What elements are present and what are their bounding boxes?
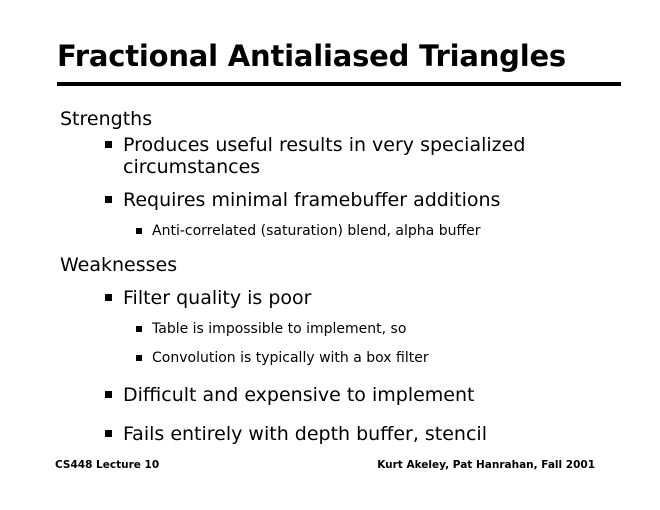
bullet-label: Produces useful results in very speciali… — [123, 134, 525, 178]
section-heading-strengths: Strengths — [0, 108, 660, 131]
spacer — [0, 371, 660, 384]
bullet-label: Filter quality is poor — [123, 287, 311, 309]
footer-authors-label: Kurt Akeley, Pat Hanrahan, Fall 2001 — [377, 458, 595, 472]
square-bullet-icon — [105, 430, 112, 437]
slide-body: Strengths Produces useful results in ver… — [0, 108, 660, 449]
section-heading-label: Weaknesses — [60, 254, 177, 276]
bullet-item: Fails entirely with depth buffer, stenci… — [0, 423, 660, 445]
slide-canvas: Fractional Antialiased Triangles Strengt… — [0, 0, 660, 510]
sub-bullet-item: Anti-correlated (saturation) blend, alph… — [0, 222, 660, 240]
section-heading-weaknesses: Weaknesses — [0, 254, 660, 277]
slide-footer: CS448 Lecture 10 Kurt Akeley, Pat Hanrah… — [55, 458, 595, 472]
spacer — [0, 410, 660, 423]
sub-bullet-label: Anti-correlated (saturation) blend, alph… — [152, 223, 480, 239]
spacer — [0, 313, 660, 320]
square-bullet-icon — [105, 391, 112, 398]
sub-bullet-item: Convolution is typically with a box filt… — [0, 349, 660, 367]
page-title: Fractional Antialiased Triangles — [57, 38, 623, 74]
sub-bullet-item: Table is impossible to implement, so — [0, 320, 660, 338]
bullet-label: Requires minimal framebuffer additions — [123, 189, 500, 211]
square-bullet-icon — [136, 355, 142, 361]
bullet-label: Fails entirely with depth buffer, stenci… — [123, 423, 487, 445]
bullet-item: Requires minimal framebuffer additions — [0, 189, 660, 211]
sub-bullet-label: Convolution is typically with a box filt… — [152, 350, 429, 366]
spacer — [0, 182, 660, 189]
title-divider-rule — [57, 82, 621, 86]
square-bullet-icon — [136, 326, 142, 332]
title-block: Fractional Antialiased Triangles — [57, 38, 623, 74]
square-bullet-icon — [105, 196, 112, 203]
spacer — [0, 215, 660, 222]
spacer — [0, 342, 660, 349]
sub-bullet-label: Table is impossible to implement, so — [152, 321, 406, 337]
bullet-item: Produces useful results in very speciali… — [0, 134, 660, 178]
footer-course-label: CS448 Lecture 10 — [55, 458, 159, 472]
square-bullet-icon — [105, 294, 112, 301]
section-heading-label: Strengths — [60, 108, 152, 130]
spacer — [0, 280, 660, 287]
bullet-item: Filter quality is poor — [0, 287, 660, 309]
square-bullet-icon — [136, 228, 142, 234]
spacer — [0, 244, 660, 254]
bullet-label: Difficult and expensive to implement — [123, 384, 474, 406]
bullet-item: Difficult and expensive to implement — [0, 384, 660, 406]
square-bullet-icon — [105, 141, 112, 148]
